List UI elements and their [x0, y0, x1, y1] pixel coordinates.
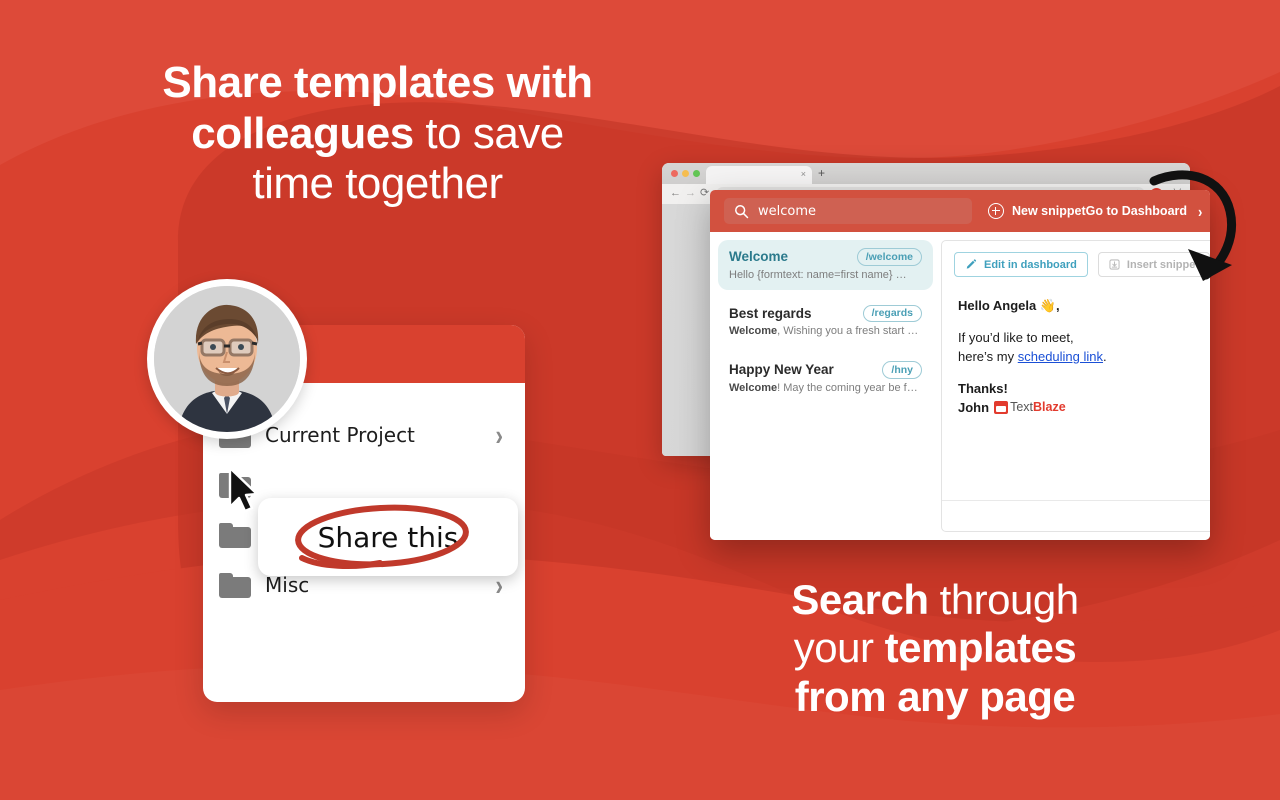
snippet-preview-text: , Wishing you a fresh start … [777, 325, 918, 337]
browser-tabstrip: × + [662, 163, 1190, 184]
avatar-photo [154, 286, 300, 432]
back-arrow-icon[interactable]: ← [670, 188, 681, 199]
mail-signoff: Thanks! [958, 380, 1206, 399]
folder-label: Misc [265, 573, 495, 597]
mail-signature: John TextBlaze [958, 400, 1206, 415]
brand-text: Text [1010, 400, 1033, 414]
snippet-item-best-regards[interactable]: Best regards /regards Welcome, Wishing y… [718, 297, 933, 347]
spacer [958, 316, 1206, 329]
avatar-portrait-illustration [154, 286, 300, 432]
brand-text-bold: Blaze [1033, 400, 1066, 414]
snippet-preview: Welcome! May the coming year be f… [729, 382, 922, 394]
folder-label: Current Project [265, 423, 495, 447]
headline-top-line2-bold: colleagues [191, 109, 413, 158]
snippet-preview-text: Hello {formtext: name=first name} … [729, 269, 907, 281]
popup-body: Welcome /welcome Hello {formtext: name=f… [710, 232, 1210, 540]
new-tab-icon[interactable]: + [818, 167, 825, 179]
headline-bottom-line2-bold: templates [885, 624, 1077, 671]
spacer [958, 367, 1206, 380]
detail-footer [942, 500, 1210, 531]
avatar [147, 279, 307, 439]
textblaze-popup: welcome New snippet Go to Dashboard › We… [710, 190, 1210, 540]
folder-icon [219, 523, 251, 548]
snippet-list: Welcome /welcome Hello {formtext: name=f… [710, 232, 941, 540]
snippet-shortcut-badge: /regards [863, 305, 922, 323]
plus-circle-icon [988, 203, 1004, 219]
snippet-item-welcome[interactable]: Welcome /welcome Hello {formtext: name=f… [718, 240, 933, 290]
search-input[interactable]: welcome [724, 198, 972, 224]
headline-bottom-line2-rest: your [794, 624, 885, 671]
snippet-shortcut-badge: /welcome [857, 248, 922, 266]
edit-in-dashboard-button[interactable]: Edit in dashboard [954, 252, 1088, 277]
snippet-preview-text: ! May the coming year be f… [777, 382, 918, 394]
chevron-right-icon: › [495, 421, 503, 450]
headline-search-templates: Search through your templates from any p… [700, 576, 1170, 721]
forward-arrow-icon[interactable]: → [685, 188, 696, 199]
red-circle-highlight-icon [258, 498, 518, 576]
scheduling-link[interactable]: scheduling link [1018, 349, 1103, 364]
snippet-title: Happy New Year [729, 362, 882, 377]
search-icon [734, 204, 749, 219]
new-snippet-label: New snippet [1012, 204, 1086, 218]
mail-body-line-1: If you’d like to meet, [958, 329, 1206, 348]
headline-bottom-line1-rest: through [928, 576, 1078, 623]
snippet-shortcut-badge: /hny [882, 361, 922, 379]
share-this-tooltip[interactable]: Share this › [258, 498, 518, 576]
edit-in-dashboard-label: Edit in dashboard [984, 259, 1077, 271]
snippet-title: Best regards [729, 306, 863, 321]
mail-body-line-2-pre: here’s my [958, 349, 1018, 364]
close-icon[interactable]: × [801, 170, 806, 179]
browser-tab[interactable]: × [706, 166, 812, 184]
snippet-preview-match: Welcome [729, 382, 777, 394]
snippet-preview-match: Welcome [729, 325, 777, 337]
headline-top-line3: time together [252, 159, 502, 208]
snippet-header: Welcome /welcome [729, 248, 922, 266]
snippet-item-happy-new-year[interactable]: Happy New Year /hny Welcome! May the com… [718, 353, 933, 403]
window-close-light-icon[interactable] [671, 170, 678, 177]
snippet-header: Best regards /regards [729, 305, 922, 323]
headline-share-templates: Share templates with colleagues to save … [80, 58, 675, 210]
snippet-preview-body: Hello Angela 👋, If you’d like to meet, h… [942, 277, 1210, 500]
popup-toolbar: welcome New snippet Go to Dashboard › [710, 190, 1210, 232]
headline-top-line1: Share templates with [162, 58, 592, 107]
reload-icon[interactable]: ⟳ [700, 188, 709, 199]
snippet-preview: Hello {formtext: name=first name} … [729, 269, 922, 281]
mouse-cursor-icon [227, 466, 261, 514]
annotation-arrow-icon [1148, 165, 1244, 305]
pencil-icon [965, 259, 977, 271]
signature-name: John [958, 400, 989, 415]
search-input-value: welcome [758, 204, 816, 219]
headline-top-line2-rest: to save [414, 109, 564, 158]
headline-bottom-line1-bold: Search [791, 576, 928, 623]
mail-body-line-2: here’s my scheduling link. [958, 348, 1206, 367]
textblaze-wordmark: TextBlaze [1010, 400, 1066, 414]
textblaze-logo-icon [994, 401, 1008, 414]
window-maximize-light-icon[interactable] [693, 170, 700, 177]
snippet-header: Happy New Year /hny [729, 361, 922, 379]
window-minimize-light-icon[interactable] [682, 170, 689, 177]
snippet-title: Welcome [729, 249, 857, 264]
mail-body-line-2-post: . [1103, 349, 1107, 364]
new-snippet-button[interactable]: New snippet [988, 203, 1086, 219]
headline-bottom-line3: from any page [795, 673, 1076, 720]
snippet-preview: Welcome, Wishing you a fresh start … [729, 325, 922, 337]
folder-icon [219, 573, 251, 598]
insert-box-icon [1109, 259, 1120, 270]
